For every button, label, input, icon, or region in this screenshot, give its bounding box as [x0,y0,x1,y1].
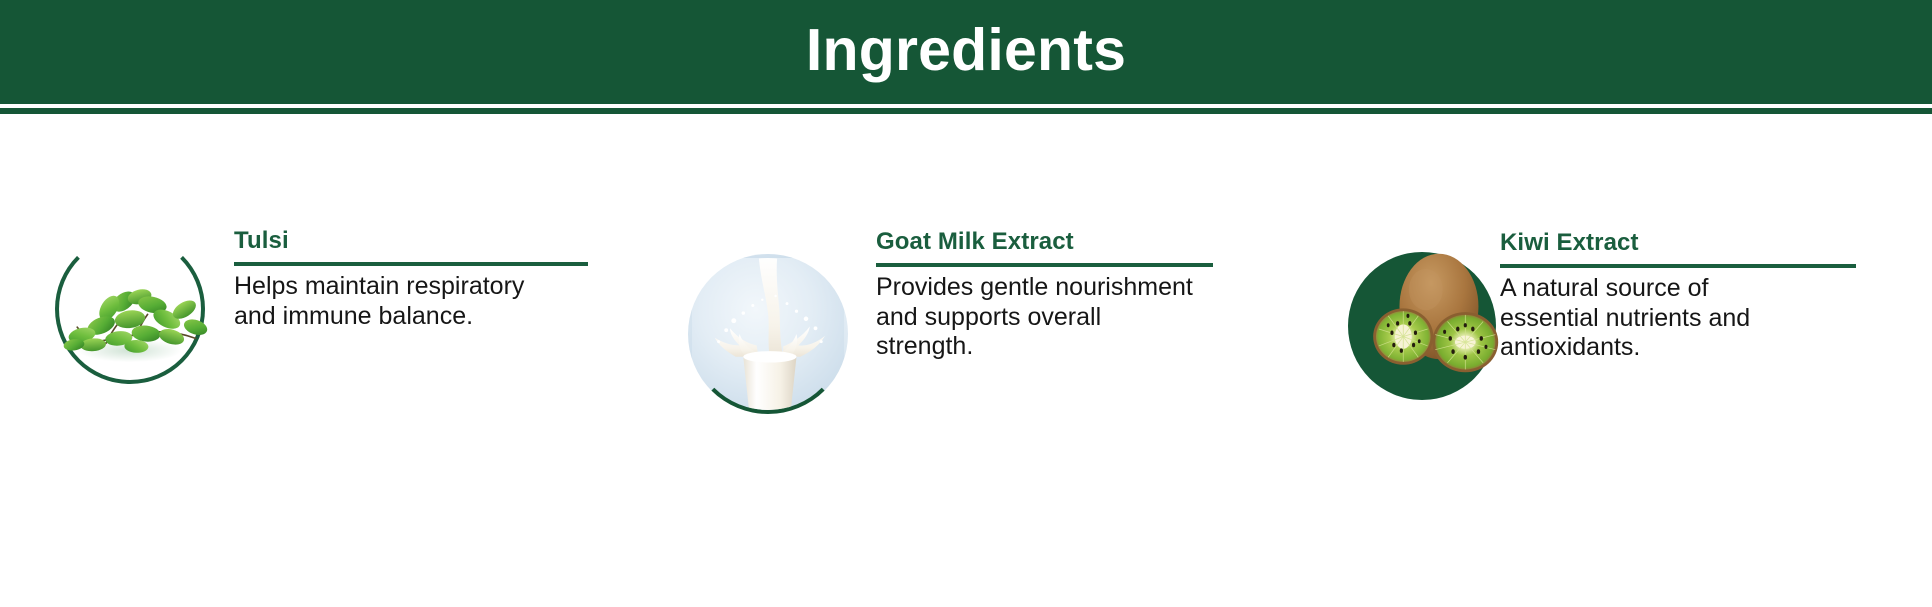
kiwi-fruit-icon [1360,237,1520,412]
ingredient-description-tulsi: Helps maintain respiratory and immune ba… [234,272,564,331]
ingredient-title-goat-milk-extract: Goat Milk Extract [876,229,1221,255]
tulsi-text-block: Tulsi Helps maintain respiratory and imm… [234,228,594,331]
tulsi-media [55,234,205,384]
goat-milk-circle-frame [688,254,848,414]
ingredient-card-goat-milk-extract[interactable]: Goat Milk Extract Provides gentle nouris… [680,114,1300,607]
ingredient-description-goat-milk-extract: Provides gentle nourishment and supports… [876,273,1196,361]
kiwi-text-block: Kiwi Extract A natural source of essenti… [1500,230,1865,362]
goat-milk-media [688,254,848,414]
ingredients-list: Tulsi Helps maintain respiratory and imm… [0,114,1932,607]
ingredient-card-kiwi-extract[interactable]: Kiwi Extract A natural source of essenti… [1330,114,1930,607]
tulsi-leaves-icon [46,252,214,372]
page-header: Ingredients [0,0,1932,104]
goat-milk-text-block: Goat Milk Extract Provides gentle nouris… [876,229,1221,361]
ingredient-description-kiwi-extract: A natural source of essential nutrients … [1500,274,1790,362]
ingredient-title-rule [876,263,1213,267]
ingredient-title-kiwi-extract: Kiwi Extract [1500,230,1865,256]
milk-splash-icon [692,258,844,410]
ingredient-card-tulsi[interactable]: Tulsi Helps maintain respiratory and imm… [40,114,660,607]
ingredient-title-rule [1500,264,1856,268]
page-title: Ingredients [806,21,1126,83]
kiwi-media [1348,252,1496,400]
ingredient-title-rule [234,262,588,266]
ingredient-title-tulsi: Tulsi [234,228,594,254]
